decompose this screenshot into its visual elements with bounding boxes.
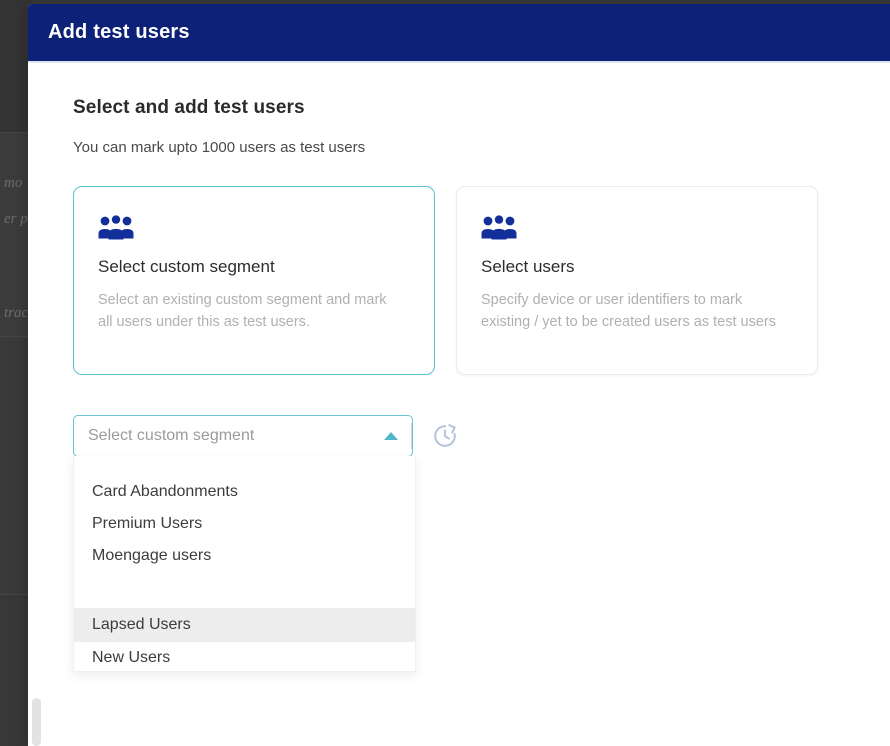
modal-title: Add test users (48, 21, 190, 44)
option-card-select-users[interactable]: Select users Specify device or user iden… (456, 186, 818, 375)
modal-header: Add test users (28, 4, 890, 61)
dropdown-option[interactable]: New Users (74, 642, 415, 672)
dropdown-option[interactable]: Lapsed Users (74, 608, 415, 642)
dropdown-spacer (74, 572, 415, 608)
people-group-icon (98, 215, 408, 245)
backdrop-divider (0, 594, 30, 595)
segment-select[interactable]: Select custom segment (73, 415, 413, 457)
dropdown-option[interactable]: Moengage users (74, 540, 415, 572)
page-title: Select and add test users (73, 97, 890, 119)
segment-dropdown-panel[interactable]: Card Abandonments Premium Users Moengage… (73, 456, 416, 672)
segment-select-value: Select custom segment (88, 427, 254, 445)
backdrop-divider (0, 336, 30, 337)
option-card-select-custom-segment[interactable]: Select custom segment Select an existing… (73, 186, 435, 375)
modal-scrollbar[interactable] (32, 698, 41, 746)
option-card-description: Specify device or user identifiers to ma… (481, 289, 781, 334)
screen: mo er p trac Add test users Select and a… (0, 0, 890, 746)
select-divider (411, 423, 412, 449)
option-card-description: Select an existing custom segment and ma… (98, 289, 398, 334)
history-refresh-icon[interactable] (431, 422, 459, 450)
option-card-title: Select users (481, 257, 791, 277)
add-test-users-modal: Add test users Select and add test users… (28, 4, 890, 746)
dropdown-option[interactable]: Premium Users (74, 508, 415, 540)
modal-body: Select and add test users You can mark u… (28, 63, 890, 457)
page-subtitle: You can mark upto 1000 users as test use… (73, 139, 890, 156)
option-card-list: Select custom segment Select an existing… (73, 186, 890, 375)
people-group-icon (481, 215, 791, 245)
dropdown-option[interactable]: Card Abandonments (74, 476, 415, 508)
option-card-title: Select custom segment (98, 257, 408, 277)
segment-select-row: Select custom segment (73, 415, 890, 457)
backdrop-divider (0, 132, 30, 133)
chevron-up-icon[interactable] (372, 416, 412, 456)
